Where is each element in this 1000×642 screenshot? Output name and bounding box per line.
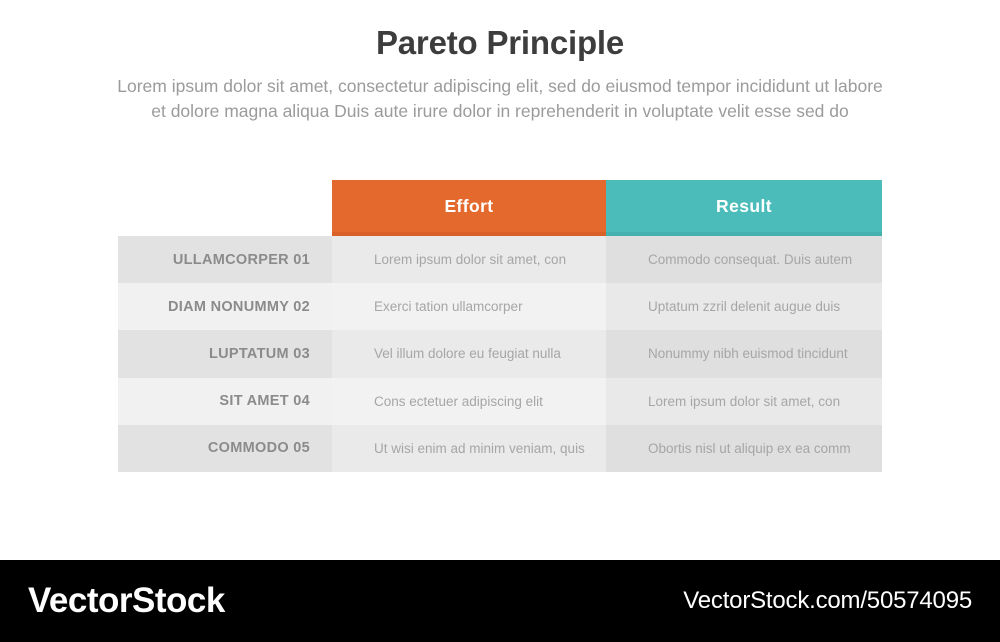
table-cell-effort: Lorem ipsum dolor sit amet, con <box>332 236 606 283</box>
slide-canvas: Pareto Principle Lorem ipsum dolor sit a… <box>0 0 1000 560</box>
table-cell-label: SIT AMET 04 <box>118 378 332 425</box>
page-title: Pareto Principle <box>0 22 1000 64</box>
table-cell-result: Nonummy nibh euismod tincidunt <box>606 330 882 377</box>
table-cell-effort: Cons ectetuer adipiscing elit <box>332 378 606 425</box>
table-header-label-spacer <box>118 180 332 236</box>
page-subtitle-line-1: Lorem ipsum dolor sit amet, consectetur … <box>50 74 950 99</box>
heading-block: Pareto Principle Lorem ipsum dolor sit a… <box>0 22 1000 124</box>
table-row: SIT AMET 04 Cons ectetuer adipiscing eli… <box>118 378 882 425</box>
table-header-effort: Effort <box>332 180 606 236</box>
table-cell-label: LUPTATUM 03 <box>118 330 332 377</box>
watermark-footer-bar: VectorStock VectorStock.com/50574095 <box>0 560 1000 642</box>
table-cell-result: Commodo consequat. Duis autem <box>606 236 882 283</box>
table-row: ULLAMCORPER 01 Lorem ipsum dolor sit ame… <box>118 236 882 283</box>
table-row: LUPTATUM 03 Vel illum dolore eu feugiat … <box>118 330 882 377</box>
table-cell-effort: Ut wisi enim ad minim veniam, quis <box>332 425 606 472</box>
page-subtitle-line-2: et dolore magna aliqua Duis aute irure d… <box>50 99 950 124</box>
table-cell-effort: Exerci tation ullamcorper <box>332 283 606 330</box>
page-subtitle: Lorem ipsum dolor sit amet, consectetur … <box>50 74 950 124</box>
table-body: ULLAMCORPER 01 Lorem ipsum dolor sit ame… <box>118 236 882 472</box>
pareto-table: Effort Result ULLAMCORPER 01 Lorem ipsum… <box>118 180 882 472</box>
table-cell-label: ULLAMCORPER 01 <box>118 236 332 283</box>
table-cell-result: Lorem ipsum dolor sit amet, con <box>606 378 882 425</box>
table-cell-label: DIAM NONUMMY 02 <box>118 283 332 330</box>
vectorstock-logo: VectorStock <box>28 581 225 621</box>
table-cell-result: Uptatum zzril delenit augue duis <box>606 283 882 330</box>
table-cell-effort: Vel illum dolore eu feugiat nulla <box>332 330 606 377</box>
table-row: COMMODO 05 Ut wisi enim ad minim veniam,… <box>118 425 882 472</box>
table-cell-result: Obortis nisl ut aliquip ex ea comm <box>606 425 882 472</box>
table-row: DIAM NONUMMY 02 Exerci tation ullamcorpe… <box>118 283 882 330</box>
table-header-effort-label: Effort <box>444 196 493 217</box>
vectorstock-url: VectorStock.com/50574095 <box>683 587 972 615</box>
table-header-result-label: Result <box>716 196 772 217</box>
table-cell-label: COMMODO 05 <box>118 425 332 472</box>
table-header-row: Effort Result <box>118 180 882 236</box>
table-header-result: Result <box>606 180 882 236</box>
